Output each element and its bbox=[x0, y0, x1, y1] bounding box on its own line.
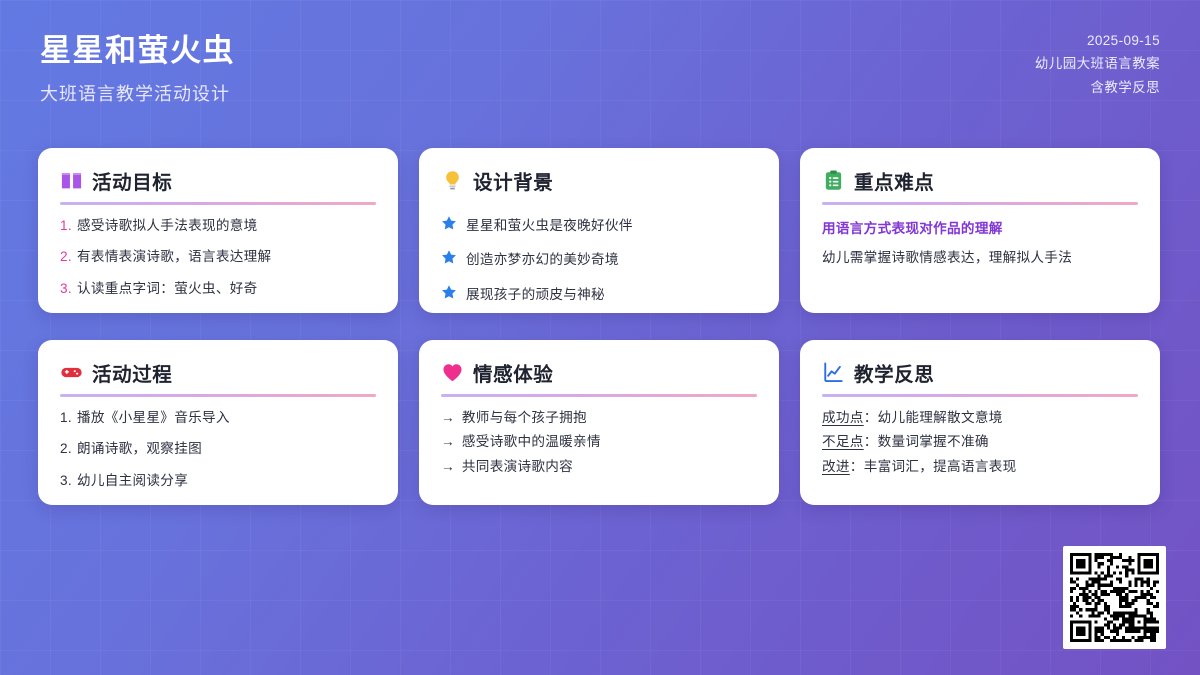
card-header: 重点难点 bbox=[822, 166, 1138, 194]
meta-note: 含教学反思 bbox=[1035, 76, 1160, 99]
qr-code-canvas bbox=[1070, 553, 1159, 642]
card-activity-process: 活动过程 1. 播放《小星星》音乐导入 2. 朗诵诗歌，观察挂图 3. 幼儿自主… bbox=[38, 340, 398, 505]
list-marker: 1. bbox=[60, 217, 72, 235]
key-point-highlight: 用语言方式表现对作品的理解 bbox=[822, 217, 1138, 237]
card-title: 情感体验 bbox=[473, 358, 553, 387]
arrow-icon: → bbox=[441, 458, 455, 476]
list-item: 创造亦梦亦幻的美妙奇境 bbox=[441, 248, 757, 269]
list-item: 3. 认读重点字词：萤火虫、好奇 bbox=[60, 280, 376, 298]
gamepad-icon bbox=[60, 361, 83, 384]
poster-header: 星星和萤火虫 大班语言教学活动设计 2025-09-15 幼儿园大班语言教案 含… bbox=[0, 0, 1200, 132]
card-divider bbox=[441, 394, 757, 397]
list-text: 教师与每个孩子拥抱 bbox=[462, 409, 587, 427]
list-text: 展现孩子的顽皮与神秘 bbox=[466, 286, 605, 304]
star-icon bbox=[441, 249, 457, 265]
card-divider bbox=[60, 394, 376, 397]
list-text: ：幼儿能理解散文意境 bbox=[864, 409, 1003, 427]
list-text: 共同表演诗歌内容 bbox=[462, 458, 573, 476]
card-grid: 活动目标 1. 感受诗歌拟人手法表现的意境 2. 有表情表演诗歌，语言表达理解 … bbox=[38, 148, 1162, 505]
list-text: 认读重点字词：萤火虫、好奇 bbox=[77, 280, 258, 298]
reflection-label: 成功点 bbox=[822, 409, 864, 427]
list-item: 改进 ：丰富词汇，提高语言表现 bbox=[822, 458, 1138, 476]
header-left-block: 星星和萤火虫 大班语言教学活动设计 bbox=[40, 26, 235, 106]
card-header: 活动目标 bbox=[60, 166, 376, 194]
list-marker: 2. bbox=[60, 440, 72, 458]
reflection-label: 改进 bbox=[822, 458, 850, 476]
card-content: 1. 感受诗歌拟人手法表现的意境 2. 有表情表演诗歌，语言表达理解 3. 认读… bbox=[60, 217, 376, 299]
chart-icon bbox=[822, 361, 845, 384]
page-title: 星星和萤火虫 bbox=[40, 32, 235, 71]
page-subtitle: 大班语言教学活动设计 bbox=[40, 80, 235, 106]
list-text: ：丰富词汇，提高语言表现 bbox=[850, 458, 1017, 476]
card-content: → 教师与每个孩子拥抱 → 感受诗歌中的温暖亲情 → 共同表演诗歌内容 bbox=[441, 409, 757, 491]
arrow-icon: → bbox=[441, 409, 455, 427]
list-item: → 感受诗歌中的温暖亲情 bbox=[441, 433, 757, 451]
card-title: 重点难点 bbox=[854, 166, 934, 195]
list-text: ：数量词掌握不准确 bbox=[864, 433, 989, 451]
list-text: 幼儿自主阅读分享 bbox=[77, 472, 188, 490]
card-design-background: 设计背景 星星和萤火虫是夜晚好伙伴 创造亦梦亦幻的美妙奇境 bbox=[419, 148, 779, 313]
card-activity-goals: 活动目标 1. 感受诗歌拟人手法表现的意境 2. 有表情表演诗歌，语言表达理解 … bbox=[38, 148, 398, 313]
list-item: → 教师与每个孩子拥抱 bbox=[441, 409, 757, 427]
card-divider bbox=[822, 202, 1138, 205]
star-icon bbox=[441, 284, 457, 300]
qr-code[interactable] bbox=[1063, 546, 1166, 649]
card-header: 设计背景 bbox=[441, 166, 757, 194]
lightbulb-icon bbox=[441, 169, 464, 192]
list-marker: 1. bbox=[60, 409, 72, 427]
arrow-icon: → bbox=[441, 433, 455, 451]
card-divider bbox=[822, 394, 1138, 397]
list-marker: 3. bbox=[60, 280, 72, 298]
list-item: → 共同表演诗歌内容 bbox=[441, 458, 757, 476]
list-item: 2. 朗诵诗歌，观察挂图 bbox=[60, 440, 376, 458]
card-content: 星星和萤火虫是夜晚好伙伴 创造亦梦亦幻的美妙奇境 展现孩子的顽皮与神秘 bbox=[441, 214, 757, 304]
card-content: 成功点 ：幼儿能理解散文意境 不足点 ：数量词掌握不准确 改进 ：丰富词汇，提高… bbox=[822, 409, 1138, 491]
list-marker: 2. bbox=[60, 248, 72, 266]
card-title: 活动过程 bbox=[92, 358, 172, 387]
card-content: 用语言方式表现对作品的理解 幼儿需掌握诗歌情感表达，理解拟人手法 bbox=[822, 217, 1138, 299]
header-meta-block: 2025-09-15 幼儿园大班语言教案 含教学反思 bbox=[1035, 29, 1160, 103]
list-item: 展现孩子的顽皮与神秘 bbox=[441, 283, 757, 304]
card-teaching-reflection: 教学反思 成功点 ：幼儿能理解散文意境 不足点 ：数量词掌握不准确 改进 ：丰富… bbox=[800, 340, 1160, 505]
card-header: 教学反思 bbox=[822, 358, 1138, 386]
list-text: 感受诗歌中的温暖亲情 bbox=[462, 433, 601, 451]
clipboard-icon bbox=[822, 169, 845, 192]
reflection-label: 不足点 bbox=[822, 433, 864, 451]
book-icon bbox=[60, 169, 83, 192]
card-content: 1. 播放《小星星》音乐导入 2. 朗诵诗歌，观察挂图 3. 幼儿自主阅读分享 bbox=[60, 409, 376, 491]
poster-root: 星星和萤火虫 大班语言教学活动设计 2025-09-15 幼儿园大班语言教案 含… bbox=[0, 0, 1200, 675]
list-text: 星星和萤火虫是夜晚好伙伴 bbox=[466, 217, 633, 235]
key-point-detail: 幼儿需掌握诗歌情感表达，理解拟人手法 bbox=[822, 249, 1138, 267]
list-item: 2. 有表情表演诗歌，语言表达理解 bbox=[60, 248, 376, 266]
star-icon bbox=[441, 215, 457, 231]
list-item: 不足点 ：数量词掌握不准确 bbox=[822, 433, 1138, 451]
list-text: 感受诗歌拟人手法表现的意境 bbox=[77, 217, 258, 235]
card-header: 活动过程 bbox=[60, 358, 376, 386]
list-item: 3. 幼儿自主阅读分享 bbox=[60, 472, 376, 490]
card-title: 设计背景 bbox=[473, 166, 553, 195]
card-header: 情感体验 bbox=[441, 358, 757, 386]
list-text: 有表情表演诗歌，语言表达理解 bbox=[77, 248, 272, 266]
list-item: 1. 感受诗歌拟人手法表现的意境 bbox=[60, 217, 376, 235]
list-text: 播放《小星星》音乐导入 bbox=[77, 409, 230, 427]
card-divider bbox=[60, 202, 376, 205]
card-title: 教学反思 bbox=[854, 358, 934, 387]
list-item: 1. 播放《小星星》音乐导入 bbox=[60, 409, 376, 427]
card-title: 活动目标 bbox=[92, 166, 172, 195]
list-text: 朗诵诗歌，观察挂图 bbox=[77, 440, 202, 458]
card-emotional-experience: 情感体验 → 教师与每个孩子拥抱 → 感受诗歌中的温暖亲情 → 共同表演诗歌内容 bbox=[419, 340, 779, 505]
list-text: 创造亦梦亦幻的美妙奇境 bbox=[466, 251, 619, 269]
heart-icon bbox=[441, 361, 464, 384]
list-item: 星星和萤火虫是夜晚好伙伴 bbox=[441, 214, 757, 235]
card-key-difficulties: 重点难点 用语言方式表现对作品的理解 幼儿需掌握诗歌情感表达，理解拟人手法 bbox=[800, 148, 1160, 313]
meta-category: 幼儿园大班语言教案 bbox=[1035, 52, 1160, 75]
list-marker: 3. bbox=[60, 472, 72, 490]
list-item: 成功点 ：幼儿能理解散文意境 bbox=[822, 409, 1138, 427]
meta-date: 2025-09-15 bbox=[1035, 29, 1160, 52]
